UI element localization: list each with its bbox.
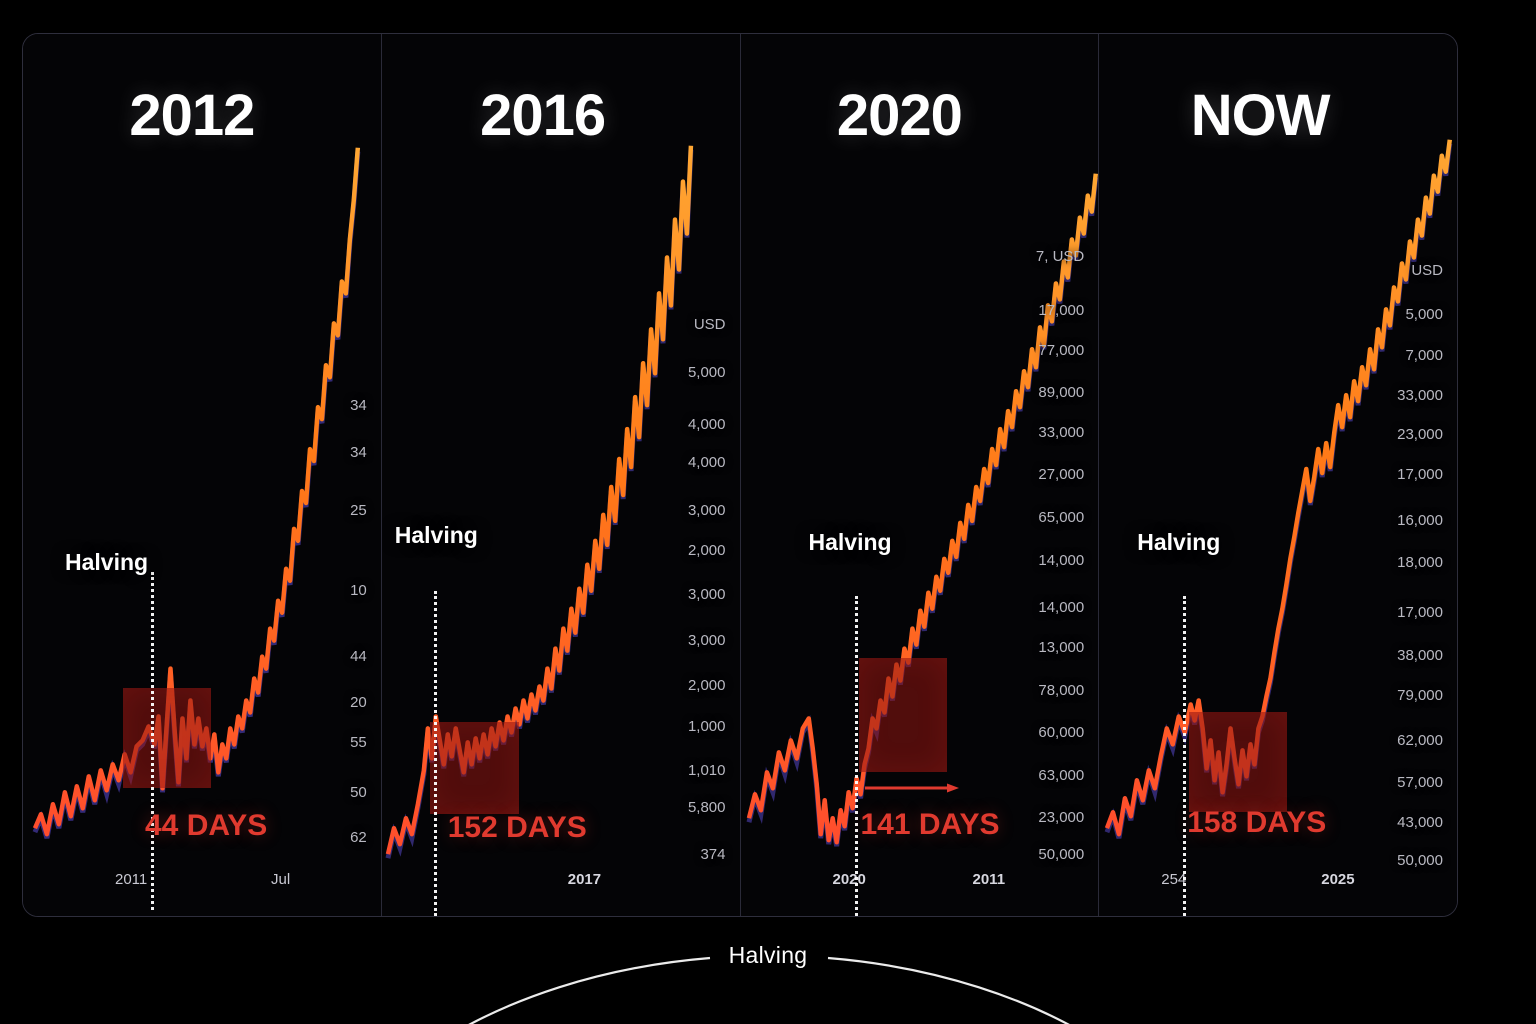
- y-tick: 10: [350, 582, 367, 599]
- x-tick: Jul: [271, 871, 290, 888]
- y-tick: 65,000: [1038, 509, 1084, 526]
- y-tick: 79,000: [1397, 687, 1443, 704]
- panel-title-2012: 2012: [23, 82, 371, 149]
- y-tick: 5,000: [1405, 306, 1443, 323]
- y-tick: 25: [350, 502, 367, 519]
- y-axis-now: USD 5,000 7,000 33,000 23,000 17,000 16,…: [1379, 34, 1449, 916]
- halving-label-2016: Halving: [395, 522, 478, 549]
- x-tick: 2025: [1321, 871, 1354, 888]
- y-tick: 62,000: [1397, 732, 1443, 749]
- y-tick: 33,000: [1397, 387, 1443, 404]
- y-axis-2020: 7, USD 17,000 77,000 89,000 33,000 27,00…: [1020, 34, 1090, 916]
- x-tick: 2017: [568, 871, 601, 888]
- y-tick: 23,000: [1038, 809, 1084, 826]
- y-tick: 7, USD: [1036, 248, 1084, 265]
- y-tick: 55: [350, 734, 367, 751]
- y-tick: 4,000: [688, 416, 726, 433]
- y-tick: 34: [350, 444, 367, 461]
- y-tick: 77,000: [1038, 342, 1084, 359]
- y-tick: 50: [350, 784, 367, 801]
- y-tick: 4,000: [688, 454, 726, 471]
- halving-label-now: Halving: [1137, 529, 1220, 556]
- y-tick: 18,000: [1397, 554, 1443, 571]
- screenshot-root: 2012 Halving 44 DAYS 34 34: [0, 0, 1536, 1024]
- y-tick: 50,000: [1397, 852, 1443, 869]
- panel-title-2016: 2016: [382, 82, 722, 149]
- y-axis-2016: USD 5,000 4,000 4,000 3,000 2,000 3,000 …: [662, 34, 732, 916]
- y-tick: 14,000: [1038, 599, 1084, 616]
- panel-now[interactable]: NOW Halving 158 DAYS USD 5,000 7,000 33,…: [1099, 34, 1457, 916]
- y-tick: 57,000: [1397, 774, 1443, 791]
- y-tick: 50,000: [1038, 846, 1084, 863]
- panel-title-2020: 2020: [741, 82, 1079, 149]
- y-tick: 27,000: [1038, 466, 1084, 483]
- halving-label-2012: Halving: [65, 549, 148, 576]
- consolidation-box-2016: [430, 722, 519, 814]
- panel-2016[interactable]: 2016 Halving 152 DAYS USD 5,000 4,000 4,…: [382, 34, 741, 916]
- days-arrow-2020: [865, 782, 959, 794]
- days-label-2020: 141 DAYS: [861, 808, 1000, 842]
- y-tick: 23,000: [1397, 426, 1443, 443]
- y-tick: 2,000: [688, 677, 726, 694]
- x-tick: 2011: [115, 871, 147, 888]
- x-tick: 2020: [833, 871, 866, 888]
- y-tick: 14,000: [1038, 552, 1084, 569]
- days-label-now: 158 DAYS: [1187, 806, 1326, 840]
- y-tick: 20: [350, 694, 367, 711]
- arc-label-halving: Halving: [0, 942, 1536, 969]
- y-tick: 13,000: [1038, 639, 1084, 656]
- consolidation-box-2012: [123, 688, 211, 788]
- y-tick: USD: [1411, 262, 1443, 279]
- y-tick: 63,000: [1038, 767, 1084, 784]
- consolidation-box-2020: [859, 658, 947, 772]
- y-tick: 374: [700, 846, 725, 863]
- panel-2012[interactable]: 2012 Halving 44 DAYS 34 34: [23, 34, 382, 916]
- y-tick: 62: [350, 829, 367, 846]
- y-tick: 38,000: [1397, 647, 1443, 664]
- y-tick: 16,000: [1397, 512, 1443, 529]
- days-label-2016: 152 DAYS: [448, 811, 587, 845]
- panel-title-now: NOW: [1099, 82, 1439, 149]
- y-tick: 7,000: [1405, 347, 1443, 364]
- y-tick: 17,000: [1397, 604, 1443, 621]
- y-tick: 17,000: [1397, 466, 1443, 483]
- halving-line-now: [1183, 596, 1186, 916]
- y-tick: 1,010: [688, 762, 726, 779]
- halving-line-2020: [855, 596, 858, 916]
- y-axis-2012: 34 34 25 10 44 20 55 50 62: [303, 34, 373, 916]
- halving-label-2020: Halving: [809, 529, 892, 556]
- y-tick: 3,000: [688, 586, 726, 603]
- y-tick: 43,000: [1397, 814, 1443, 831]
- y-tick: 1,000: [688, 718, 726, 735]
- y-tick: 3,000: [688, 502, 726, 519]
- halving-arc: Halving: [0, 920, 1536, 1024]
- x-tick: 2011: [973, 871, 1006, 888]
- y-tick: 3,000: [688, 632, 726, 649]
- consolidation-box-now: [1189, 712, 1287, 812]
- y-tick: 78,000: [1038, 682, 1084, 699]
- halving-line-2016: [434, 591, 437, 916]
- halving-line-2012: [151, 572, 154, 910]
- y-tick: 33,000: [1038, 424, 1084, 441]
- days-label-2012: 44 DAYS: [145, 809, 267, 843]
- y-tick: 60,000: [1038, 724, 1084, 741]
- y-tick: 17,000: [1038, 302, 1084, 319]
- y-tick: 5,000: [688, 364, 726, 381]
- arc-svg: [0, 920, 1536, 1024]
- y-tick: 2,000: [688, 542, 726, 559]
- y-tick: 89,000: [1038, 384, 1084, 401]
- y-tick: 5,800: [688, 799, 726, 816]
- y-tick: 34: [350, 397, 367, 414]
- comparison-frame: 2012 Halving 44 DAYS 34 34: [22, 33, 1458, 917]
- panel-2020[interactable]: 2020 Halving 141 DAYS 7, USD 17,000: [741, 34, 1100, 916]
- y-tick: USD: [694, 316, 726, 333]
- y-tick: 44: [350, 648, 367, 665]
